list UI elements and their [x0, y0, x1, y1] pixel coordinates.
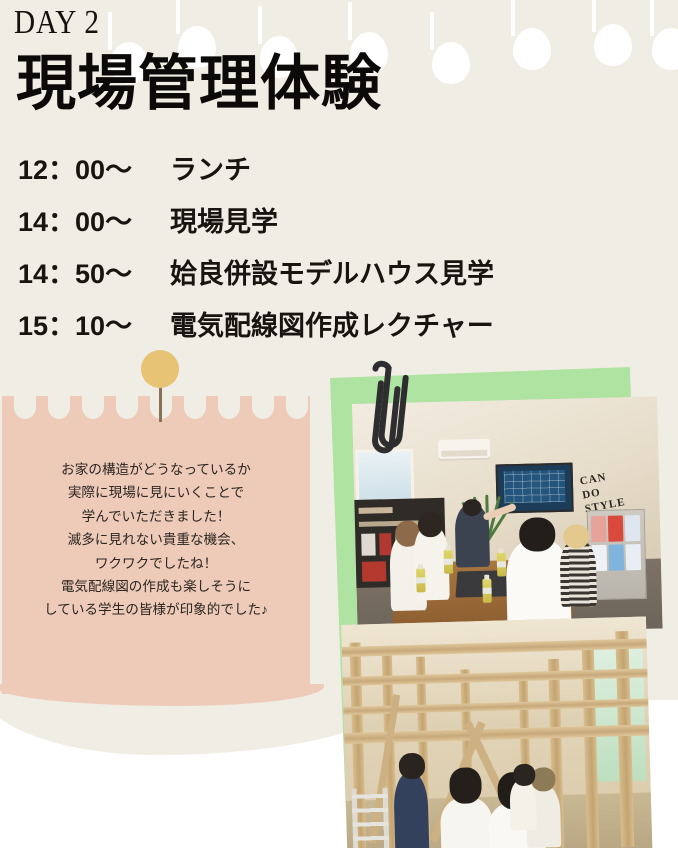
schedule-time: 14：50〜 — [18, 252, 170, 291]
memo-note-line: している学生の皆様が印象的でした♪ — [2, 598, 310, 621]
memo-note-line: 実際に現場に見にいくことで — [2, 481, 310, 504]
memo-note-notch — [252, 395, 274, 419]
person-staff-head — [399, 753, 426, 780]
person-staff — [393, 773, 429, 848]
pendant-cord — [258, 6, 262, 44]
schedule-row: 14：50〜姶良併設モデルハウス見学 — [18, 252, 668, 291]
memo-note-text: お家の構造がどうなっているか実際に現場に見にいくことで学んでいただきました！滅多… — [2, 458, 310, 622]
air-conditioner-icon — [438, 439, 490, 459]
memo-note-line: 電気配線図の作成も楽しそうに — [2, 575, 310, 598]
pendant-cord — [592, 0, 596, 32]
person-student-4 — [559, 540, 597, 607]
drink-bottle — [416, 568, 426, 592]
page-title: 現場管理体験 — [16, 52, 382, 115]
memo-note-line: 学んでいただきました！ — [2, 505, 310, 528]
schedule-item: ランチ — [170, 148, 251, 187]
person-student-3-head — [519, 517, 556, 552]
schedule-row: 12：00〜ランチ — [18, 148, 668, 187]
schedule-time: 12：00〜 — [18, 148, 170, 187]
memo-note-notch — [116, 395, 138, 419]
memo-note-notch — [218, 395, 240, 419]
schedule-time: 15：10〜 — [18, 304, 170, 343]
drink-bottle — [497, 552, 507, 576]
memo-note-notch — [184, 395, 206, 419]
person-student-1-head — [449, 767, 482, 804]
memo-note-line: ワクワクでしたね！ — [2, 552, 310, 575]
push-pin-icon — [139, 350, 183, 422]
pendant-cord — [650, 0, 654, 36]
schedule-row: 14：00〜現場見学 — [18, 200, 668, 239]
pendant-bulb — [432, 42, 470, 84]
schedule-item: 現場見学 — [170, 200, 278, 239]
pendant-cord — [430, 12, 434, 50]
day-label: DAY 2 — [14, 6, 100, 40]
memo-note-notch — [286, 395, 308, 419]
paper-clip-icon — [358, 358, 414, 466]
memo-note-notch — [48, 395, 70, 419]
drink-bottle — [482, 579, 492, 603]
pendant-bulb — [594, 24, 632, 66]
memo-note-notch — [14, 395, 36, 419]
memo-note-line: お家の構造がどうなっているか — [2, 458, 310, 481]
construction-site-scene — [341, 616, 652, 848]
schedule-item: 電気配線図作成レクチャー — [170, 304, 494, 343]
schedule-item: 姶良併設モデルハウス見学 — [170, 252, 494, 291]
photo-construction-site — [341, 616, 652, 848]
schedule-row: 15：10〜電気配線図作成レクチャー — [18, 304, 668, 343]
person-student-1 — [440, 797, 494, 848]
person-student-2-head — [418, 512, 444, 538]
pendant-cord — [348, 2, 352, 40]
step-ladder — [352, 788, 390, 848]
memo-note-card: お家の構造がどうなっているか実際に現場に見にいくことで学んでいただきました！滅多… — [2, 396, 310, 694]
person-student-4-head — [513, 764, 536, 787]
poster-canvas: DAY 2 現場管理体験 12：00〜ランチ14：00〜現場見学14：50〜姶良… — [0, 0, 678, 848]
pendant-cord — [511, 0, 515, 36]
person-student-4 — [509, 780, 536, 831]
pendant-cord — [108, 12, 112, 50]
drink-bottle — [444, 550, 454, 574]
schedule-time: 14：00〜 — [18, 200, 170, 239]
push-pin-head — [141, 350, 179, 388]
person-student-4-head — [563, 524, 590, 549]
pendant-bulb — [652, 28, 678, 70]
pendant-bulb — [513, 28, 551, 70]
schedule-list: 12：00〜ランチ14：00〜現場見学14：50〜姶良併設モデルハウス見学15：… — [18, 148, 668, 356]
memo-note-notch — [82, 395, 104, 419]
memo-note-line: 滅多に見れない貴重な機会、 — [2, 528, 310, 551]
pendant-cord — [176, 0, 180, 34]
